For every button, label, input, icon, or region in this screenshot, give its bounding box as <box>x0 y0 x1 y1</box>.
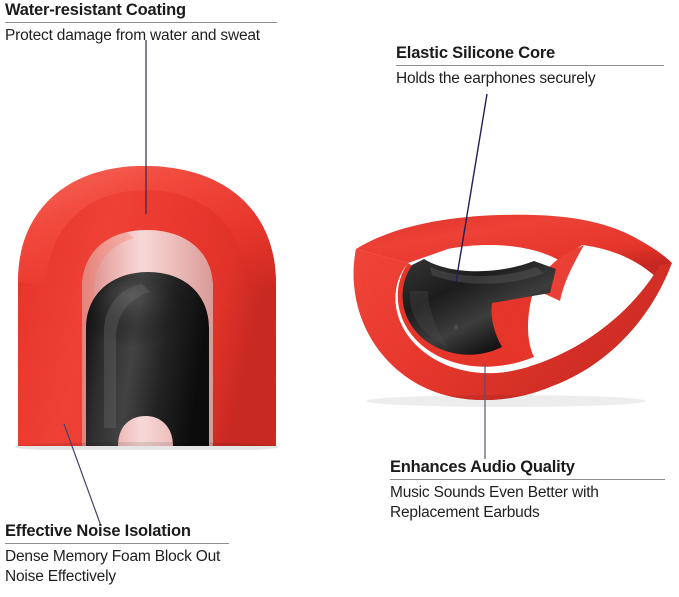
product-shadow-right <box>366 395 646 407</box>
callout-elastic-silicone-core: Elastic Silicone Core Holds the earphone… <box>396 44 664 89</box>
callout-divider <box>396 65 664 66</box>
callout-water-resistant-coating: Water-resistant Coating Protect damage f… <box>5 1 277 46</box>
foam-tip-front-svg <box>8 160 318 450</box>
foam-body-side <box>354 215 672 400</box>
callout-description: Holds the earphones securely <box>396 69 664 89</box>
callout-enhances-audio-quality: Enhances Audio Quality Music Sounds Even… <box>390 458 665 523</box>
callout-title: Effective Noise Isolation <box>5 522 229 541</box>
callout-description: Protect damage from water and sweat <box>5 26 277 46</box>
callout-divider <box>390 479 665 480</box>
callout-divider <box>5 22 277 23</box>
callout-divider <box>5 543 229 544</box>
callout-description: Music Sounds Even Better with Replacemen… <box>390 483 665 523</box>
foam-tip-side-svg <box>338 205 676 425</box>
callout-title: Water-resistant Coating <box>5 1 277 20</box>
callout-title: Elastic Silicone Core <box>396 44 664 63</box>
product-image-foam-tip-side <box>338 205 676 425</box>
callout-description: Dense Memory Foam Block Out Noise Effect… <box>5 547 229 587</box>
infographic-canvas: Water-resistant Coating Protect damage f… <box>0 0 679 597</box>
callout-effective-noise-isolation: Effective Noise Isolation Dense Memory F… <box>5 522 229 587</box>
callout-title: Enhances Audio Quality <box>390 458 665 477</box>
product-image-foam-tip-front <box>8 160 318 450</box>
